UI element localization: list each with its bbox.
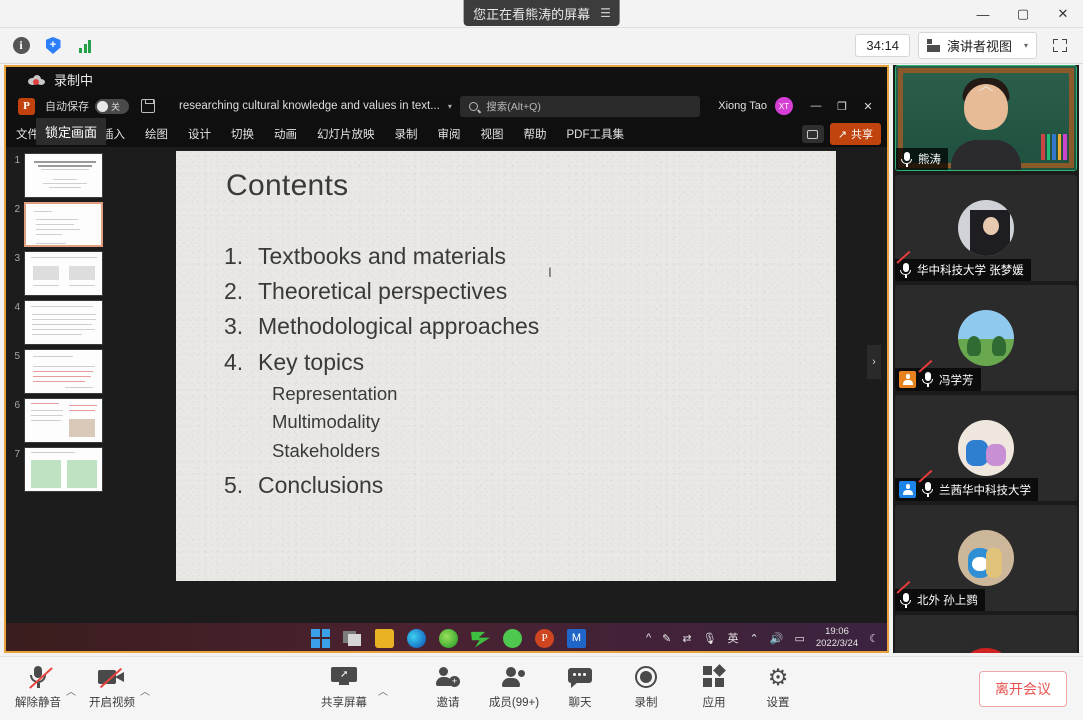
invite-button[interactable]: + 邀请 xyxy=(416,663,480,710)
thumbnail-number: 6 xyxy=(8,398,20,411)
clock-time: 19:06 xyxy=(816,626,858,638)
windows-taskbar: P M ^ ✎ ⇄ 🎙 英 ⌃ 🔊 ▭ 19:06 2022/3/24 ☾ xyxy=(6,623,887,653)
share-icon: ↗ xyxy=(838,128,847,141)
list-number: 2. xyxy=(224,274,258,309)
meeting-control-bar: 解除静音 ︿ 开启视频 ︿ ➚ 共享屏幕 xyxy=(0,656,1083,720)
list-item[interactable]: 1 xyxy=(6,151,118,200)
slide-thumbnail[interactable] xyxy=(24,398,103,443)
save-icon[interactable] xyxy=(141,99,155,113)
powerpoint-ribbon-tabs: 文件 开始 插入 绘图 设计 切换 动画 幻灯片放映 录制 审阅 视图 帮助 P… xyxy=(6,121,887,147)
tab-view[interactable]: 视图 xyxy=(471,126,514,142)
view-mode-selector[interactable]: 演讲者视图 ▾ xyxy=(918,32,1037,59)
settings-button[interactable]: ⚙ 设置 xyxy=(746,663,810,710)
taskbar-tray: ^ ✎ ⇄ 🎙 英 ⌃ 🔊 ▭ 19:06 2022/3/24 ☾ xyxy=(646,626,879,650)
list-text: Theoretical perspectives xyxy=(258,274,507,309)
camera-off-icon xyxy=(98,663,126,691)
mute-button[interactable]: 解除静音 xyxy=(6,663,70,710)
speaker-view-icon xyxy=(927,39,941,52)
taskbar-clock[interactable]: 19:06 2022/3/24 xyxy=(816,626,858,650)
slide-thumbnail[interactable] xyxy=(24,349,103,394)
wechat-icon[interactable] xyxy=(503,629,522,648)
record-icon xyxy=(635,663,657,691)
meeting-toolbar-right: 34:14 演讲者视图 ▾ xyxy=(855,32,1075,59)
meeting-titlebar: 您正在看熊涛的屏幕 ☰ — ▢ ✕ xyxy=(0,0,1083,28)
participant-tile[interactable]: ﹀ xyxy=(895,615,1077,653)
participant-tile[interactable]: 冯学芳 xyxy=(895,285,1077,391)
apps-button[interactable]: 应用 xyxy=(682,663,746,710)
microphone-icon xyxy=(900,152,913,167)
powerpoint-window: P 自动保存 关 researching cultural knowledge … xyxy=(6,91,887,651)
record-label: 录制 xyxy=(635,694,658,710)
microphone-muted-icon xyxy=(921,482,934,497)
gear-icon: ⚙ xyxy=(768,663,789,691)
participant-name-bar: 兰茜华中科技大学 xyxy=(895,478,1038,501)
participant-tile[interactable]: 北外 孙上鹨 xyxy=(895,505,1077,611)
microphone-muted-icon xyxy=(921,372,934,387)
screen-share-icon: ➚ xyxy=(331,663,357,691)
pen-icon[interactable]: ✎ xyxy=(662,632,671,645)
list-item: 5. Conclusions xyxy=(224,468,784,503)
video-options-chevron-icon[interactable]: ︿ xyxy=(140,683,150,698)
avatar xyxy=(958,420,1014,476)
tab-pdf-tools[interactable]: PDF工具集 xyxy=(557,126,635,142)
invite-label: 邀请 xyxy=(437,694,460,710)
apps-label: 应用 xyxy=(703,694,726,710)
meeting-timer: 34:14 xyxy=(855,34,910,57)
recording-indicator: 录制中 xyxy=(6,67,887,91)
tab-animations[interactable]: 动画 xyxy=(264,126,307,142)
tab-help[interactable]: 帮助 xyxy=(514,126,557,142)
text-ibeam-cursor: I xyxy=(548,264,552,280)
list-number: 4. xyxy=(224,345,258,380)
list-text: Methodological approaches xyxy=(258,309,539,344)
volume-icon[interactable]: 🔊 xyxy=(770,632,784,645)
list-number: 3. xyxy=(224,309,258,344)
list-item: 2. Theoretical perspectives xyxy=(224,274,784,309)
participant-tile[interactable]: 华中科技大学 张梦媛 xyxy=(895,175,1077,281)
invite-user-icon: + xyxy=(436,663,460,691)
microphone-muted-icon xyxy=(899,263,912,278)
security-shield-icon[interactable]: + xyxy=(40,33,66,59)
search-icon xyxy=(467,100,480,113)
participant-name-bar: 熊涛 xyxy=(896,148,948,170)
slide-thumbnail-panel[interactable]: 1 2 xyxy=(6,147,118,623)
thumbnail-number: 2 xyxy=(8,202,20,215)
list-item[interactable]: 3 xyxy=(6,249,118,298)
leave-meeting-button[interactable]: 离开会议 xyxy=(979,671,1067,707)
list-item[interactable]: 2 xyxy=(6,200,118,249)
slide-thumbnail[interactable] xyxy=(24,251,103,296)
list-text: Textbooks and materials xyxy=(258,239,506,274)
sub-list-item: Stakeholders xyxy=(224,437,784,466)
participant-name-bar: 华中科技大学 张梦媛 xyxy=(895,259,1031,281)
lock-screen-tooltip: 锁定画面 xyxy=(36,118,106,145)
microphone-muted-icon xyxy=(899,593,912,608)
participant-name: 北外 孙上鹨 xyxy=(917,592,978,608)
tab-record[interactable]: 录制 xyxy=(385,126,428,142)
view-mode-label: 演讲者视图 xyxy=(947,36,1012,55)
tab-transitions[interactable]: 切换 xyxy=(221,126,264,142)
share-options-chevron-icon[interactable]: ︿ xyxy=(378,683,388,698)
host-badge-icon xyxy=(899,371,916,388)
chat-button[interactable]: 聊天 xyxy=(548,663,612,710)
participants-button[interactable]: 成员(99+) xyxy=(482,663,546,710)
autosave-label: 自动保存 xyxy=(45,98,89,114)
next-pane-button[interactable]: › xyxy=(867,345,881,379)
list-item[interactable]: 5 xyxy=(6,347,118,396)
sub-list-item: Multimodality xyxy=(224,408,784,437)
document-title[interactable]: researching cultural knowledge and value… xyxy=(179,100,440,112)
thumbnail-number: 3 xyxy=(8,251,20,264)
thumbnail-number: 1 xyxy=(8,153,20,166)
close-button[interactable]: ✕ xyxy=(1043,0,1083,28)
search-placeholder: 搜索(Alt+Q) xyxy=(486,99,541,114)
shared-screen-region: 录制中 P 自动保存 关 researching cultural knowle… xyxy=(4,65,889,653)
ppt-restore-button[interactable]: ❐ xyxy=(829,93,855,119)
clock-date: 2022/3/24 xyxy=(816,638,858,650)
avatar xyxy=(958,640,1014,653)
edge-icon[interactable] xyxy=(407,629,426,648)
list-item[interactable]: 4 xyxy=(6,298,118,347)
participant-name: 冯学芳 xyxy=(939,372,974,388)
network-quality-icon[interactable] xyxy=(72,33,98,59)
app-blue-icon[interactable]: M xyxy=(567,629,586,648)
app-green-icon[interactable] xyxy=(471,629,490,648)
slide-thumbnail[interactable] xyxy=(24,300,103,345)
participants-label: 成员(99+) xyxy=(489,694,539,710)
powerpoint-icon: P xyxy=(18,98,35,115)
share-button-label: 共享 xyxy=(851,126,873,142)
chevron-down-icon: ▾ xyxy=(1024,41,1028,50)
participant-name: 华中科技大学 张梦媛 xyxy=(917,262,1024,278)
thumbnail-number: 4 xyxy=(8,300,20,313)
slide-title: Contents xyxy=(226,169,348,203)
ppt-close-button[interactable]: ✕ xyxy=(855,93,881,119)
video-label: 开启视频 xyxy=(89,694,135,710)
apps-grid-icon xyxy=(703,663,725,691)
chat-label: 聊天 xyxy=(569,694,592,710)
powerpoint-icon[interactable]: P xyxy=(535,629,554,648)
sub-list-item: Representation xyxy=(224,380,784,409)
taskbar-apps: P M xyxy=(311,629,586,648)
microphone-muted-icon xyxy=(28,663,48,691)
avatar xyxy=(958,200,1014,256)
info-icon[interactable]: i xyxy=(8,33,34,59)
list-item[interactable]: 6 xyxy=(6,396,118,445)
powerpoint-window-controls: — ❐ ✕ xyxy=(803,93,881,119)
list-item: 3. Methodological approaches xyxy=(224,309,784,344)
slide-canvas-area: Contents 1. Textbooks and materials 2. T… xyxy=(118,147,887,623)
current-slide[interactable]: Contents 1. Textbooks and materials 2. T… xyxy=(176,151,836,581)
video-button[interactable]: 开启视频 xyxy=(80,663,144,710)
share-button[interactable]: ↗ 共享 xyxy=(830,123,881,145)
autosave-state: 关 xyxy=(111,100,120,113)
participant-tile[interactable]: 兰茜华中科技大学 xyxy=(895,395,1077,501)
task-view-icon[interactable] xyxy=(343,629,362,648)
tab-review[interactable]: 审阅 xyxy=(428,126,471,142)
participant-name: 熊涛 xyxy=(918,151,941,167)
share-screen-label: 共享屏幕 xyxy=(321,694,367,710)
comment-icon[interactable] xyxy=(802,125,824,143)
app-root: 您正在看熊涛的屏幕 ☰ — ▢ ✕ i + 34:14 演讲者视图 ▾ xyxy=(0,0,1083,720)
list-number: 1. xyxy=(224,239,258,274)
account-name[interactable]: Xiong Tao xyxy=(718,100,767,112)
moon-do-not-disturb-icon[interactable]: ☾ xyxy=(869,632,879,645)
slide-thumbnail[interactable] xyxy=(24,447,103,492)
tab-design[interactable]: 设计 xyxy=(178,126,221,142)
list-text: Key topics xyxy=(258,345,364,380)
thumbnail-number: 5 xyxy=(8,349,20,362)
screen-share-notice: 您正在看熊涛的屏幕 ☰ xyxy=(463,0,620,26)
record-button[interactable]: 录制 xyxy=(614,663,678,710)
battery-icon[interactable]: ▭ xyxy=(794,632,804,645)
ppt-minimize-button[interactable]: — xyxy=(803,93,829,119)
cloud-recording-icon xyxy=(28,74,45,85)
chevron-down-icon[interactable]: ▾ xyxy=(448,102,452,111)
recording-label: 录制中 xyxy=(54,70,93,89)
windows-start-icon[interactable] xyxy=(311,629,330,648)
fullscreen-icon[interactable] xyxy=(1045,33,1075,59)
ie-icon[interactable] xyxy=(439,629,458,648)
minimize-button[interactable]: — xyxy=(963,0,1003,28)
menu-icon[interactable]: ☰ xyxy=(600,6,610,20)
slide-content-list: 1. Textbooks and materials 2. Theoretica… xyxy=(224,239,784,503)
list-item: 4. Key topics xyxy=(224,345,784,380)
screen-share-notice-text: 您正在看熊涛的屏幕 xyxy=(473,4,590,23)
share-screen-button[interactable]: ➚ 共享屏幕 xyxy=(312,663,376,710)
autosave-toggle[interactable]: 关 xyxy=(95,99,129,114)
powerpoint-titlebar: P 自动保存 关 researching cultural knowledge … xyxy=(6,91,887,121)
avatar[interactable]: XT xyxy=(775,97,793,115)
avatar xyxy=(958,530,1014,586)
participants-icon xyxy=(501,663,527,691)
tab-slideshow[interactable]: 幻灯片放映 xyxy=(307,126,385,142)
list-item[interactable]: 7 xyxy=(6,445,118,494)
file-explorer-icon[interactable] xyxy=(375,629,394,648)
list-number: 5. xyxy=(224,468,258,503)
wifi-icon[interactable]: ⌃ xyxy=(750,632,759,645)
chat-bubble-icon xyxy=(568,663,592,691)
window-controls: — ▢ ✕ xyxy=(963,0,1083,28)
settings-sliders-icon[interactable]: ⇄ xyxy=(682,632,691,645)
show-hidden-icons-icon[interactable]: ^ xyxy=(646,632,651,644)
microphone-icon[interactable]: 🎙 xyxy=(703,632,717,645)
avatar xyxy=(958,310,1014,366)
mute-options-chevron-icon[interactable]: ︿ xyxy=(66,683,76,698)
mute-label: 解除静音 xyxy=(15,694,61,710)
participant-name-bar: 北外 孙上鹨 xyxy=(895,589,985,611)
thumbnail-number: 7 xyxy=(8,447,20,460)
list-text: Conclusions xyxy=(258,468,383,503)
slide-thumbnail-selected[interactable] xyxy=(24,202,103,247)
participant-tile[interactable]: ︿ 熊涛 xyxy=(895,65,1077,171)
chevron-up-icon[interactable]: ︿ xyxy=(978,74,993,95)
participants-panel[interactable]: ︿ 熊涛 华中科技大学 张梦媛 冯学芳 xyxy=(893,65,1079,653)
slide-thumbnail[interactable] xyxy=(24,153,103,198)
ribbon-right-actions: ↗ 共享 xyxy=(802,123,887,145)
ime-english-icon[interactable]: 英 xyxy=(728,630,739,646)
participant-name: 兰茜华中科技大学 xyxy=(939,482,1031,498)
maximize-button[interactable]: ▢ xyxy=(1003,0,1043,28)
cohost-badge-icon xyxy=(899,481,916,498)
search-input[interactable]: 搜索(Alt+Q) xyxy=(460,96,700,117)
tab-draw[interactable]: 绘图 xyxy=(135,126,178,142)
list-item: 1. Textbooks and materials xyxy=(224,239,784,274)
meeting-toolbar: i + 34:14 演讲者视图 ▾ xyxy=(0,28,1083,64)
powerpoint-body: 1 2 xyxy=(6,147,887,623)
settings-label: 设置 xyxy=(767,694,790,710)
participant-name-bar: 冯学芳 xyxy=(895,368,981,391)
